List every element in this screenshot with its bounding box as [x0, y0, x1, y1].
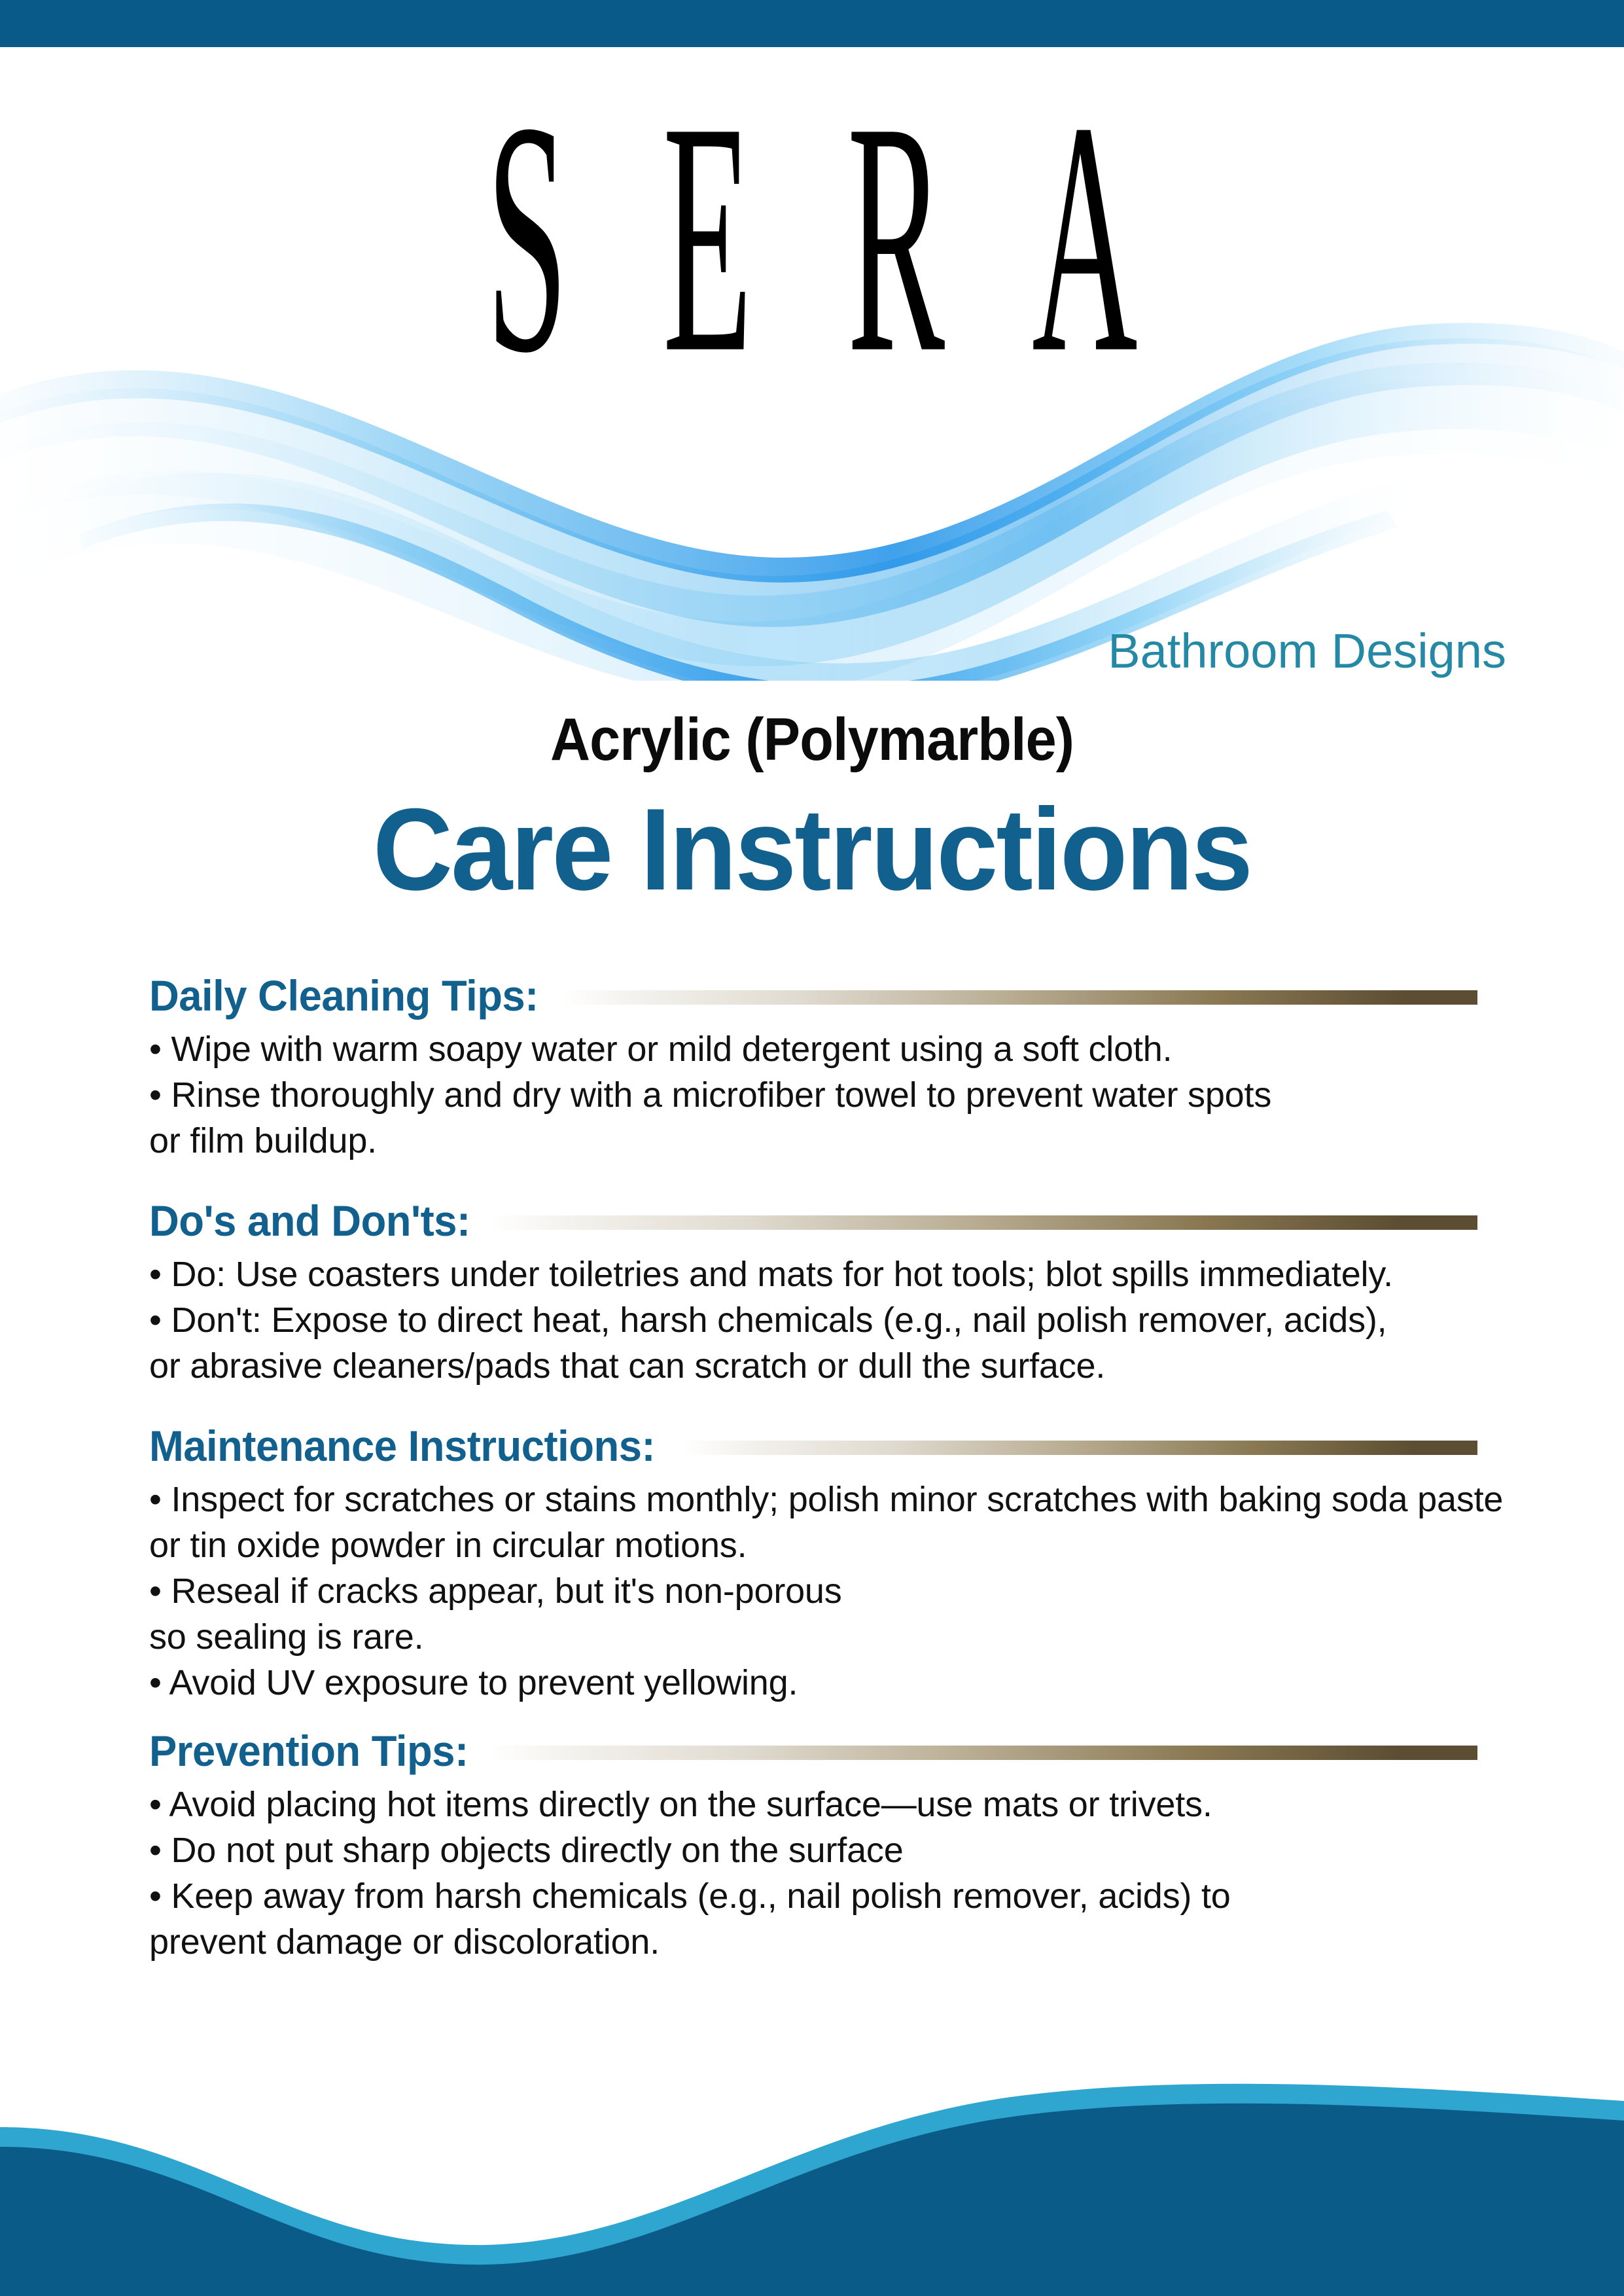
bullet-line: • Do: Use coasters under toiletries and … — [149, 1251, 1477, 1297]
bullet-line: or abrasive cleaners/pads that can scrat… — [149, 1343, 1477, 1389]
section-prevention-tips: Prevention Tips: • Avoid placing hot ite… — [149, 1723, 1477, 1965]
section-maintenance-instructions: Maintenance Instructions: • Inspect for … — [149, 1418, 1477, 1706]
section-header-row: Daily Cleaning Tips: — [149, 967, 1477, 1024]
page-title: Care Instructions — [41, 789, 1583, 910]
brand-logo-text: S E R A — [457, 72, 1167, 404]
bullet-line: so sealing is rare. — [149, 1614, 1477, 1660]
bullet-line: prevent damage or discoloration. — [149, 1919, 1477, 1965]
footer-wave-dark — [0, 2104, 1624, 2296]
section-bullets: • Wipe with warm soapy water or mild det… — [149, 1026, 1477, 1164]
bullet-line: or tin oxide powder in circular motions. — [149, 1522, 1477, 1568]
section-divider-gradient — [488, 1746, 1477, 1760]
section-header-row: Maintenance Instructions: — [149, 1418, 1477, 1474]
bullet-line: • Keep away from harsh chemicals (e.g., … — [149, 1873, 1477, 1919]
bullet-line: • Do not put sharp objects directly on t… — [149, 1827, 1477, 1873]
section-bullets: • Inspect for scratches or stains monthl… — [149, 1477, 1477, 1706]
section-heading: Daily Cleaning Tips: — [149, 972, 538, 1019]
section-divider-gradient — [490, 1215, 1477, 1230]
material-subtitle: Acrylic (Polymarble) — [65, 707, 1559, 772]
header-accent-bar — [0, 0, 1624, 47]
bullet-line: • Avoid UV exposure to prevent yellowing… — [149, 1660, 1477, 1706]
footer-wave-light — [0, 2084, 1624, 2296]
brand-logo: S E R A — [0, 72, 1624, 386]
section-header-row: Prevention Tips: — [149, 1723, 1477, 1779]
bullet-line: • Avoid placing hot items directly on th… — [149, 1782, 1477, 1827]
section-heading: Do's and Don'ts: — [149, 1197, 470, 1244]
section-daily-cleaning-tips: Daily Cleaning Tips: • Wipe with warm so… — [149, 967, 1477, 1164]
bullet-line: or film buildup. — [149, 1118, 1477, 1164]
section-divider-gradient — [682, 1441, 1477, 1455]
section-dos-and-donts: Do's and Don'ts: • Do: Use coasters unde… — [149, 1193, 1477, 1389]
care-instructions-body: Daily Cleaning Tips: • Wipe with warm so… — [149, 967, 1477, 1970]
bullet-line: • Inspect for scratches or stains monthl… — [149, 1477, 1477, 1522]
bullet-line: • Don't: Expose to direct heat, harsh ch… — [149, 1297, 1477, 1343]
section-divider-gradient — [561, 990, 1477, 1005]
bullet-line: • Wipe with warm soapy water or mild det… — [149, 1026, 1477, 1072]
footer-wave-graphic — [0, 2067, 1624, 2296]
bullet-line: • Reseal if cracks appear, but it's non-… — [149, 1568, 1477, 1614]
section-heading: Maintenance Instructions: — [149, 1422, 655, 1469]
section-header-row: Do's and Don'ts: — [149, 1193, 1477, 1249]
bullet-line: • Rinse thoroughly and dry with a microf… — [149, 1072, 1477, 1118]
section-bullets: • Avoid placing hot items directly on th… — [149, 1782, 1477, 1965]
section-heading: Prevention Tips: — [149, 1727, 468, 1774]
brand-tagline: Bathroom Designs — [1108, 625, 1506, 677]
section-bullets: • Do: Use coasters under toiletries and … — [149, 1251, 1477, 1389]
